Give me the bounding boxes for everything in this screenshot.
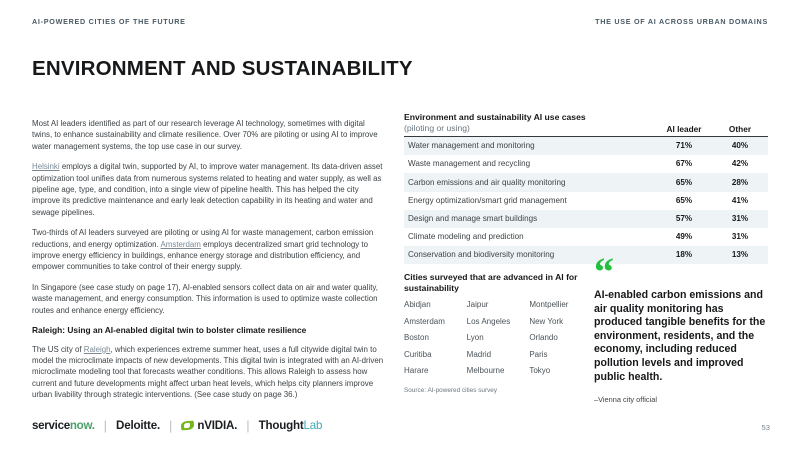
page-title: ENVIRONMENT AND SUSTAINABILITY [32, 57, 413, 81]
paragraph-intro: Most AI leaders identified as part of ou… [32, 118, 384, 152]
row-other: 42% [712, 155, 768, 173]
use-cases-table-block: Environment and sustainability AI use ca… [404, 112, 768, 264]
left-text-column: Most AI leaders identified as part of ou… [32, 118, 384, 401]
row-label: Energy optimization/smart grid managemen… [404, 192, 656, 210]
logo-divider: | [246, 418, 249, 433]
column-header-other: Other [712, 124, 768, 134]
table-row: Waste management and recycling 67% 42% [404, 155, 768, 173]
row-ai-leader: 57% [656, 210, 712, 228]
cities-block: Cities surveyed that are advanced in AI … [404, 272, 590, 376]
row-other: 41% [712, 192, 768, 210]
subheading-raleigh: Raleigh: Using an AI-enabled digital twi… [32, 325, 384, 337]
city-item: Curitiba [404, 350, 465, 360]
logo-nvidia: nVIDIA. [181, 419, 237, 432]
use-cases-table-header: (piloting or using) AI leader Other [404, 112, 768, 134]
running-header-right: THE USE OF AI ACROSS URBAN DOMAINS [595, 17, 768, 26]
cities-title: Cities surveyed that are advanced in AI … [404, 272, 590, 293]
pull-quote-text: AI-enabled carbon emissions and air qual… [594, 289, 772, 384]
use-cases-table: Water management and monitoring 71% 40% … [404, 137, 768, 264]
logo-deloitte: Deloitte. [116, 419, 160, 432]
logo-divider: | [169, 418, 172, 433]
row-label: Carbon emissions and air quality monitor… [404, 173, 656, 191]
logo-divider: | [104, 418, 107, 433]
paragraph-helsinki: Helsinki employs a digital twin, support… [32, 161, 384, 218]
logo-nvidia-text: nVIDIA. [197, 419, 237, 432]
column-header-ai-leader: AI leader [656, 124, 712, 134]
row-ai-leader: 67% [656, 155, 712, 173]
footer-logos: servicenow. | Deloitte. | nVIDIA. | Thou… [32, 418, 322, 433]
city-item: Melbourne [467, 366, 528, 376]
use-cases-table-subtitle: (piloting or using) [404, 123, 656, 134]
city-item: New York [529, 317, 590, 327]
paragraph-helsinki-text: employs a digital twin, supported by AI,… [32, 162, 382, 217]
table-row: Design and manage smart buildings 57% 31… [404, 210, 768, 228]
row-label: Water management and monitoring [404, 137, 656, 155]
city-item: Boston [404, 333, 465, 343]
paragraph-raleigh-text-a: The US city of [32, 345, 84, 354]
row-label: Climate modeling and prediction [404, 228, 656, 246]
cities-grid: Abidjan Jaipur Montpellier Amsterdam Los… [404, 300, 590, 376]
city-item: Orlando [529, 333, 590, 343]
logo-thoughtlab: ThoughtLab [259, 419, 323, 432]
row-ai-leader: 65% [656, 173, 712, 191]
slide-page: AI-POWERED CITIES OF THE FUTURE THE USE … [0, 0, 800, 450]
city-item: Amsterdam [404, 317, 465, 327]
source-note: Source: AI-powered cities survey [404, 387, 497, 394]
city-item: Madrid [467, 350, 528, 360]
logo-thoughtlab-part-b: Lab [304, 419, 323, 432]
quote-mark-icon: “ [594, 262, 772, 284]
city-item: Jaipur [467, 300, 528, 310]
paragraph-singapore: In Singapore (see case study on page 17)… [32, 282, 384, 316]
row-ai-leader: 65% [656, 192, 712, 210]
row-other: 31% [712, 210, 768, 228]
logo-servicenow-part-a: service [32, 419, 70, 432]
city-item: Lyon [467, 333, 528, 343]
city-item: Los Angeles [467, 317, 528, 327]
paragraph-amsterdam: Two-thirds of AI leaders surveyed are pi… [32, 227, 384, 273]
table-row: Climate modeling and prediction 49% 31% [404, 228, 768, 246]
logo-servicenow: servicenow. [32, 419, 95, 432]
table-row: Water management and monitoring 71% 40% [404, 137, 768, 155]
row-other: 31% [712, 228, 768, 246]
paragraph-raleigh: The US city of Raleigh, which experience… [32, 344, 384, 401]
city-item: Tokyo [529, 366, 590, 376]
pull-quote-block: “ AI-enabled carbon emissions and air qu… [594, 262, 772, 404]
link-amsterdam[interactable]: Amsterdam [161, 240, 201, 249]
row-other: 40% [712, 137, 768, 155]
link-raleigh[interactable]: Raleigh [84, 345, 111, 354]
row-ai-leader: 71% [656, 137, 712, 155]
row-label: Waste management and recycling [404, 155, 656, 173]
link-helsinki[interactable]: Helsinki [32, 162, 60, 171]
logo-thoughtlab-part-a: Thought [259, 419, 304, 432]
running-header-left: AI-POWERED CITIES OF THE FUTURE [32, 17, 186, 26]
city-item: Paris [529, 350, 590, 360]
city-item: Abidjan [404, 300, 465, 310]
table-row: Energy optimization/smart grid managemen… [404, 192, 768, 210]
row-other: 28% [712, 173, 768, 191]
row-ai-leader: 49% [656, 228, 712, 246]
table-row: Carbon emissions and air quality monitor… [404, 173, 768, 191]
running-header: AI-POWERED CITIES OF THE FUTURE THE USE … [32, 17, 768, 26]
nvidia-eye-icon [181, 421, 195, 431]
page-number: 53 [762, 423, 770, 432]
city-item: Harare [404, 366, 465, 376]
pull-quote-attribution: –Vienna city official [594, 395, 772, 404]
logo-servicenow-part-b: now. [70, 419, 95, 432]
city-item: Montpellier [529, 300, 590, 310]
row-label: Design and manage smart buildings [404, 210, 656, 228]
